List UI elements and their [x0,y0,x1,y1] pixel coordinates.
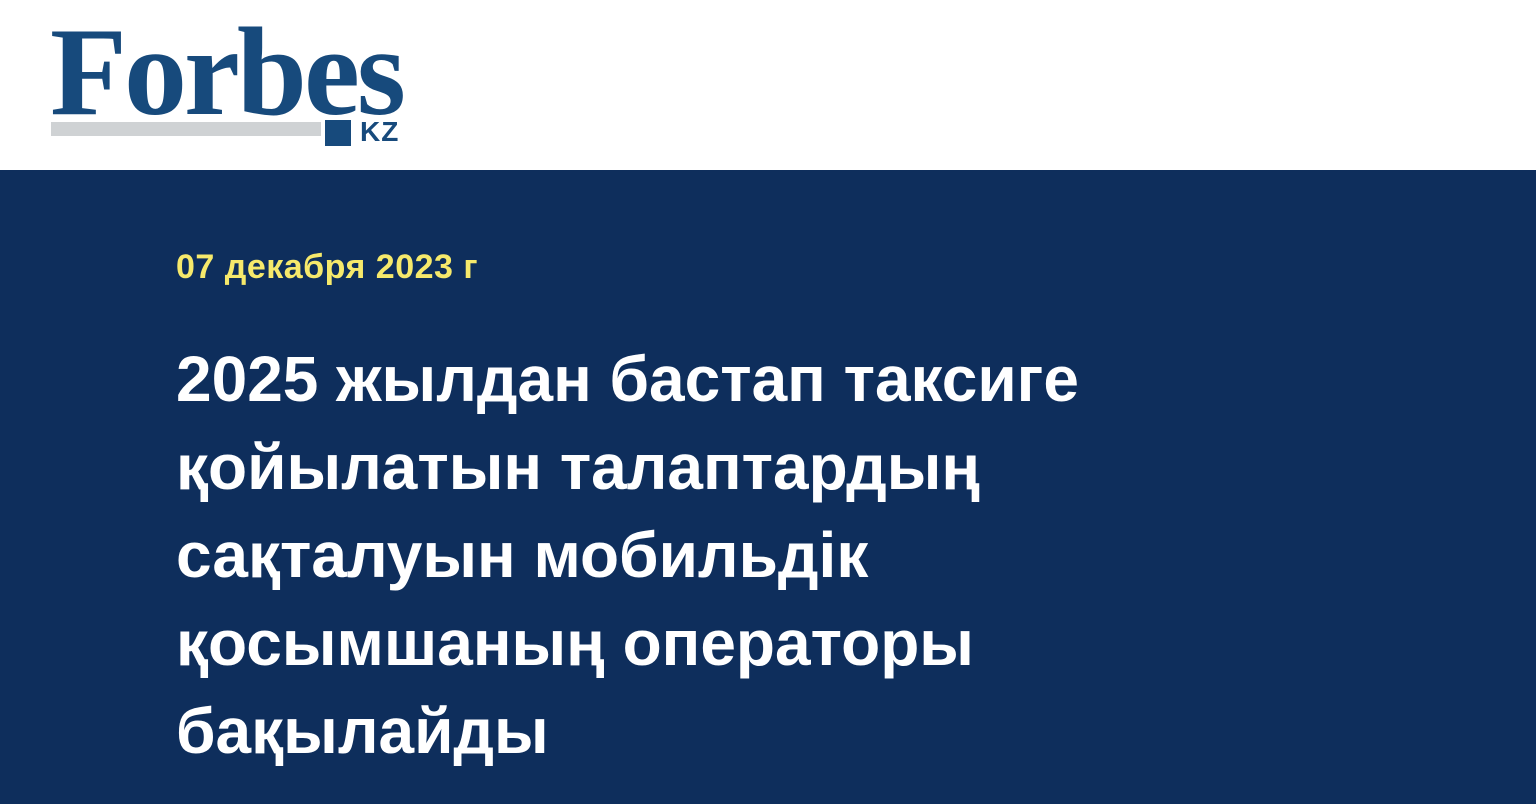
hero-content: 07 декабря 2023 г 2025 жылдан бастап так… [176,170,1236,775]
blue-square-icon [325,120,351,146]
site-header: Forbes KZ [0,0,1536,170]
forbes-kz-logo[interactable]: Forbes KZ [50,18,430,148]
logo-rule-divider [51,122,321,136]
forbes-wordmark: Forbes [50,10,403,136]
article-date: 07 декабря 2023 г [176,247,1236,287]
article-headline: 2025 жылдан бастап таксиге қойылатын тал… [176,335,1186,775]
logo-kz-label: KZ [360,118,399,146]
hero-section: 07 декабря 2023 г 2025 жылдан бастап так… [0,170,1536,804]
article-hero-page: Forbes KZ 07 декабря 2023 г 2025 жылдан … [0,0,1536,804]
